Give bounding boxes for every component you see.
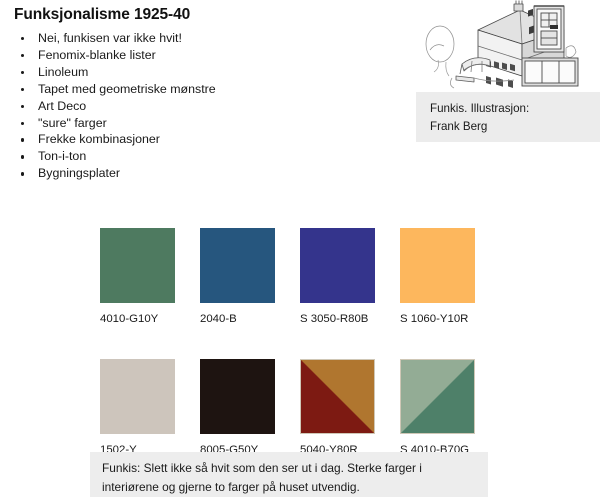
swatch-cell: 4010-G10Y	[100, 228, 200, 328]
swatch-cell: S 1060-Y10R	[400, 228, 500, 328]
list-item: Linoleum	[14, 64, 374, 81]
list-item: Ton-i-ton	[14, 148, 374, 165]
swatch-label: 2040-B	[200, 311, 296, 328]
bottom-caption-line2: interiørene og gjerne to farger på huset…	[102, 478, 488, 497]
bottom-caption-line1: Funkis: Slett ikke så hvit som den ser u…	[102, 459, 488, 478]
list-item: "sure" farger	[14, 115, 374, 132]
color-swatch	[200, 359, 275, 434]
illustration-caption-line2: Frank Berg	[430, 118, 600, 136]
color-swatch	[100, 228, 175, 303]
swatch-row-top: 4010-G10Y2040-BS 3050-R80BS 1060-Y10R	[100, 228, 500, 328]
swatch-label-group: S 3050-R80B	[300, 311, 396, 328]
swatch-label: S 1060-Y10R	[400, 311, 496, 328]
color-swatch	[200, 228, 275, 303]
feature-list: Nei, funkisen var ikke hvit!Fenomix-blan…	[14, 30, 374, 182]
list-item: Art Deco	[14, 98, 374, 115]
color-swatch	[400, 359, 475, 434]
swatch-label: S 3050-R80B	[300, 311, 396, 328]
swatch-cell: 2040-B	[200, 228, 300, 328]
color-swatch	[100, 359, 175, 434]
bottom-caption: Funkis: Slett ikke så hvit som den ser u…	[90, 452, 488, 497]
page-title: Funksjonalisme 1925-40	[14, 6, 190, 24]
list-item: Fenomix-blanke lister	[14, 47, 374, 64]
swatch-label-group: 4010-G10Y	[100, 311, 196, 328]
color-swatch	[400, 228, 475, 303]
swatch-label-group: S 1060-Y10R	[400, 311, 496, 328]
window-drawing	[522, 58, 578, 86]
swatch-cell: S 3050-R80B	[300, 228, 400, 328]
list-item: Bygningsplater	[14, 165, 374, 182]
illustration-block: Funkis. Illustrasjon: Frank Berg	[416, 0, 600, 144]
list-item: Frekke kombinasjoner	[14, 131, 374, 148]
swatch-label: 4010-G10Y	[100, 311, 196, 328]
list-item: Nei, funkisen var ikke hvit!	[14, 30, 374, 47]
color-swatch-grid: 4010-G10Y2040-BS 3050-R80BS 1060-Y10R 15…	[100, 228, 500, 476]
color-swatch	[300, 359, 375, 434]
color-swatch	[300, 228, 375, 303]
illustration-caption: Funkis. Illustrasjon: Frank Berg	[416, 92, 600, 142]
funkis-house-drawing-icon	[416, 0, 600, 92]
list-item: Tapet med geometriske mønstre	[14, 81, 374, 98]
swatch-label-group: 2040-B	[200, 311, 296, 328]
door-drawing	[534, 6, 564, 52]
illustration-caption-line1: Funkis. Illustrasjon:	[430, 100, 600, 118]
